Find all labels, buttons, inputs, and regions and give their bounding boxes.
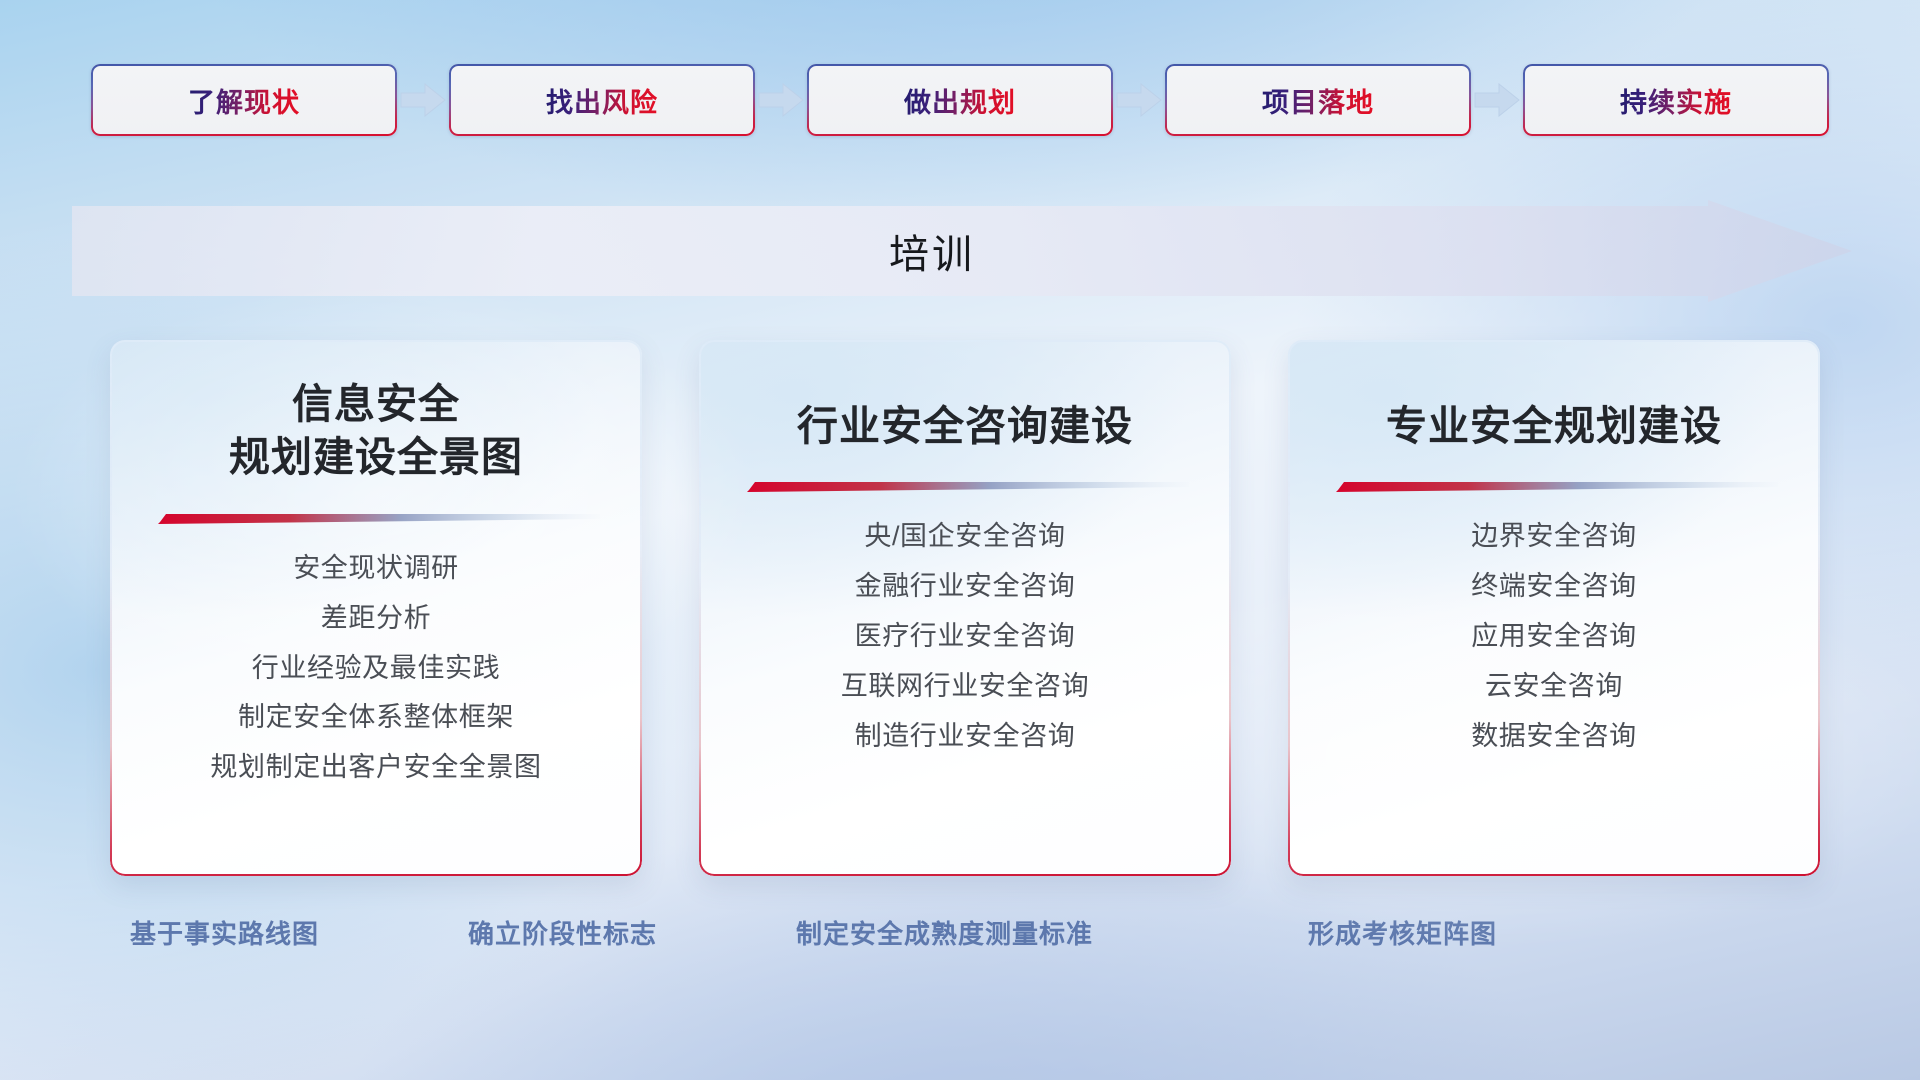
caption-milestones: 确立阶段性标志 [468, 914, 657, 951]
caption-assessment-matrix: 形成考核矩阵图 [1308, 914, 1497, 951]
step-arrow-2 [755, 64, 807, 136]
step-label: 持续实施 [1620, 81, 1732, 120]
card-item-list: 央/国企安全咨询 金融行业安全咨询 医疗行业安全咨询 互联网行业安全咨询 制造行… [841, 517, 1089, 757]
list-item: 数据安全咨询 [1471, 717, 1637, 757]
step-label: 项目落地 [1262, 81, 1374, 120]
band-label-wrap: 培训 [72, 200, 1792, 302]
card-title: 行业安全咨询建设 [797, 340, 1133, 453]
list-item: 央/国企安全咨询 [864, 517, 1065, 557]
list-item: 云安全咨询 [1485, 667, 1623, 707]
list-item: 金融行业安全咨询 [855, 567, 1076, 607]
step-box-2[interactable]: 找出风险 [449, 64, 755, 136]
training-band: 培训 [72, 200, 1852, 302]
slide-canvas: 了解现状 找出风险 做出规划 项目落地 [0, 0, 1920, 1080]
step-box-5[interactable]: 持续实施 [1523, 64, 1829, 136]
list-item: 终端安全咨询 [1471, 567, 1637, 607]
step-box-1[interactable]: 了解现状 [91, 64, 397, 136]
list-item: 安全现状调研 [293, 549, 459, 589]
list-item: 医疗行业安全咨询 [855, 617, 1076, 657]
step-arrow-4 [1471, 64, 1523, 136]
list-item: 制定安全体系整体框架 [238, 698, 514, 738]
list-item: 差距分析 [321, 599, 431, 639]
step-arrow-1 [397, 64, 449, 136]
list-item: 行业经验及最佳实践 [252, 649, 500, 689]
list-item: 制造行业安全咨询 [855, 717, 1076, 757]
card-title-line: 专业安全规划建设 [1386, 400, 1722, 453]
card-item-list: 边界安全咨询 终端安全咨询 应用安全咨询 云安全咨询 数据安全咨询 [1471, 517, 1637, 757]
card-title-line: 规划建设全景图 [229, 431, 523, 484]
step-arrow-3 [1113, 64, 1165, 136]
card-title-line: 行业安全咨询建设 [797, 400, 1133, 453]
card-item-list: 安全现状调研 差距分析 行业经验及最佳实践 制定安全体系整体框架 规划制定出客户… [210, 549, 541, 789]
list-item: 边界安全咨询 [1471, 517, 1637, 557]
card-divider [741, 479, 1189, 493]
step-box-3[interactable]: 做出规划 [807, 64, 1113, 136]
card-row: 信息安全 规划建设全景图 [110, 340, 1820, 876]
step-label: 找出风险 [546, 81, 658, 120]
card-professional-security-planning[interactable]: 专业安全规划建设 边界安 [1288, 340, 1820, 876]
step-label: 了解现状 [188, 81, 300, 120]
step-label: 做出规划 [904, 81, 1016, 120]
list-item: 应用安全咨询 [1471, 617, 1637, 657]
card-title-line: 信息安全 [229, 378, 523, 431]
card-divider [152, 511, 600, 525]
card-information-security-panorama[interactable]: 信息安全 规划建设全景图 [110, 340, 642, 876]
caption-row: 基于事实路线图 确立阶段性标志 制定安全成熟度测量标准 形成考核矩阵图 [0, 914, 1920, 958]
list-item: 互联网行业安全咨询 [841, 667, 1089, 707]
card-industry-security-consulting[interactable]: 行业安全咨询建设 央/国 [699, 340, 1231, 876]
band-label: 培训 [889, 222, 975, 280]
step-box-4[interactable]: 项目落地 [1165, 64, 1471, 136]
caption-roadmap: 基于事实路线图 [130, 914, 319, 951]
process-step-row: 了解现状 找出风险 做出规划 项目落地 [0, 64, 1920, 136]
card-divider [1330, 479, 1778, 493]
card-title: 专业安全规划建设 [1386, 340, 1722, 453]
list-item: 规划制定出客户安全全景图 [210, 748, 541, 788]
caption-maturity-standard: 制定安全成熟度测量标准 [796, 914, 1093, 951]
card-title: 信息安全 规划建设全景图 [229, 340, 523, 485]
